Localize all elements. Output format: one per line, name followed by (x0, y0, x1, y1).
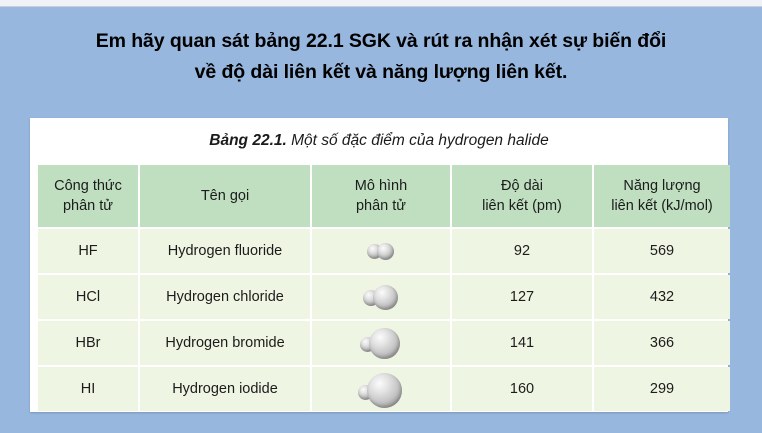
halogen-sphere (373, 285, 398, 310)
header-line-1: Tên gọi (140, 186, 310, 206)
cell-name: Hydrogen fluoride (140, 229, 310, 273)
cell-name: Hydrogen bromide (140, 321, 310, 365)
cell-bond-length: 141 (452, 321, 592, 365)
title-line-1: Em hãy quan sát bảng 22.1 SGK và rút ra … (0, 26, 762, 57)
table-header-row: Công thức phân tử Tên gọi Mô hình phân t… (38, 165, 730, 227)
table-row: HCl Hydrogen chloride 127 432 (38, 275, 730, 319)
header-line-2: liên kết (kJ/mol) (594, 196, 730, 216)
cell-bond-energy: 299 (594, 367, 730, 411)
cell-name: Hydrogen chloride (140, 275, 310, 319)
molecule-model-hi (358, 368, 404, 410)
header-line-2: liên kết (pm) (452, 196, 592, 216)
column-header-bond-length: Độ dài liên kết (pm) (452, 165, 592, 227)
table-row: HI Hydrogen iodide 160 299 (38, 367, 730, 411)
column-header-model: Mô hình phân tử (312, 165, 450, 227)
header-line-1: Độ dài (452, 176, 592, 196)
molecule-model-hcl (363, 276, 399, 318)
header-line-1: Mô hình (312, 176, 450, 196)
cell-formula: HBr (38, 321, 138, 365)
cell-model (312, 367, 450, 411)
cell-bond-energy: 366 (594, 321, 730, 365)
table-row: HF Hydrogen fluoride 92 569 (38, 229, 730, 273)
table-caption: Bảng 22.1. Một số đặc điểm của hydrogen … (30, 118, 728, 163)
cell-model (312, 229, 450, 273)
halogen-sphere (367, 373, 402, 408)
halogen-sphere (369, 328, 400, 359)
header-line-2: phân tử (38, 196, 138, 216)
cell-bond-energy: 569 (594, 229, 730, 273)
caption-label: Bảng 22.1. (209, 132, 287, 149)
column-header-bond-energy: Năng lượng liên kết (kJ/mol) (594, 165, 730, 227)
table-panel: Bảng 22.1. Một số đặc điểm của hydrogen … (30, 118, 728, 412)
caption-text: Một số đặc điểm của hydrogen halide (287, 132, 549, 149)
top-edge-strip (0, 0, 762, 7)
table-row: HBr Hydrogen bromide 141 366 (38, 321, 730, 365)
cell-name: Hydrogen iodide (140, 367, 310, 411)
cell-formula: HCl (38, 275, 138, 319)
slide-title: Em hãy quan sát bảng 22.1 SGK và rút ra … (0, 26, 762, 88)
column-header-name: Tên gọi (140, 165, 310, 227)
cell-formula: HI (38, 367, 138, 411)
column-header-formula: Công thức phân tử (38, 165, 138, 227)
molecule-model-hbr (360, 322, 402, 364)
cell-bond-length: 160 (452, 367, 592, 411)
cell-formula: HF (38, 229, 138, 273)
cell-model (312, 321, 450, 365)
cell-bond-length: 92 (452, 229, 592, 273)
cell-model (312, 275, 450, 319)
hydrogen-halide-table: Công thức phân tử Tên gọi Mô hình phân t… (36, 163, 732, 413)
cell-bond-length: 127 (452, 275, 592, 319)
molecule-model-hf (367, 230, 395, 272)
header-line-1: Công thức (38, 176, 138, 196)
header-line-1: Năng lượng (594, 176, 730, 196)
slide-canvas: Em hãy quan sát bảng 22.1 SGK và rút ra … (0, 0, 762, 433)
halogen-sphere (377, 243, 394, 260)
cell-bond-energy: 432 (594, 275, 730, 319)
title-line-2: về độ dài liên kết và năng lượng liên kế… (0, 57, 762, 88)
header-line-2: phân tử (312, 196, 450, 216)
